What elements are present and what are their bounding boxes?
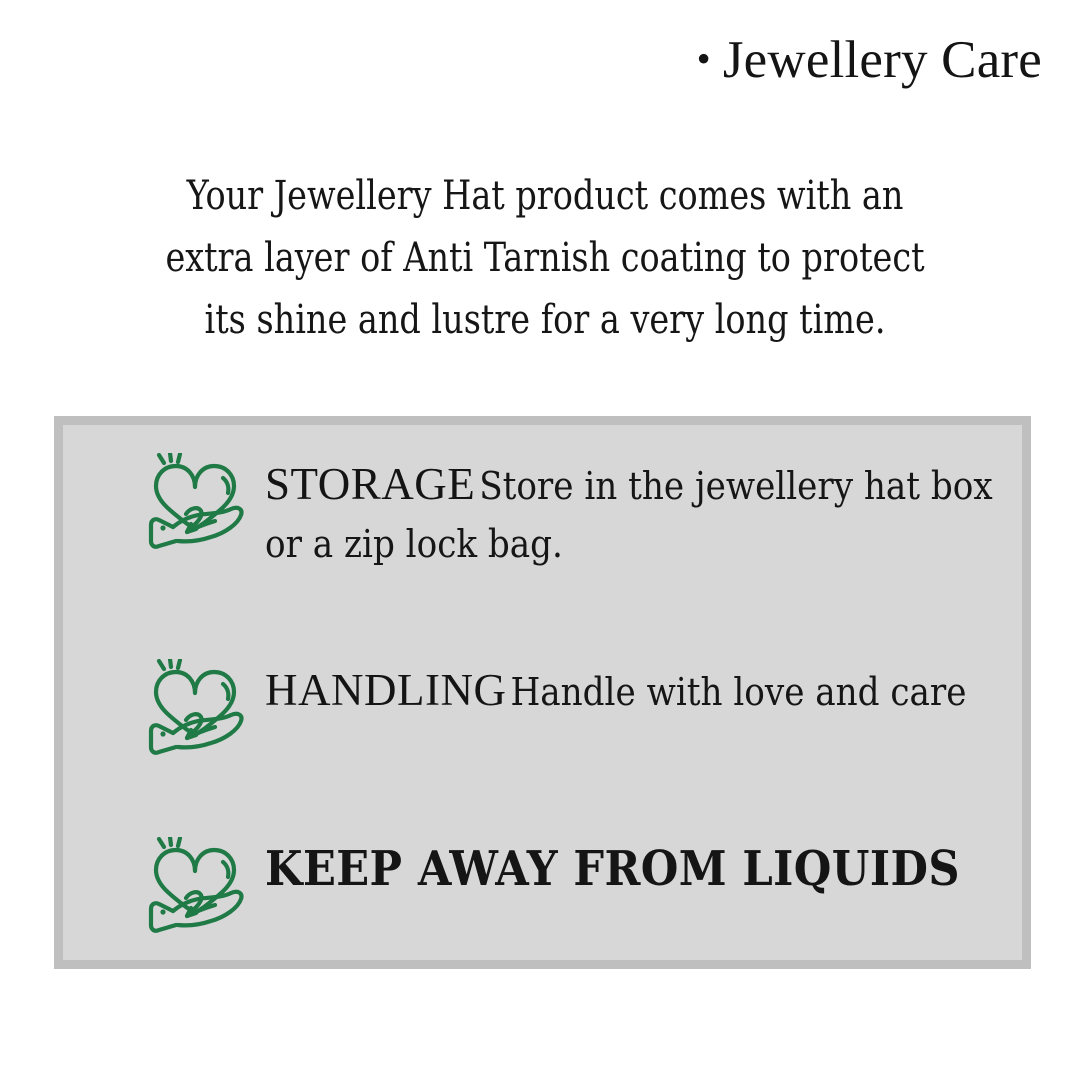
care-instructions-list: STORAGE Store in the jewellery hat box o…: [63, 425, 1022, 960]
bullet-icon: •: [697, 39, 711, 79]
care-item-desc-line: or a zip lock bag.: [265, 522, 563, 566]
care-item-text: KEEP AWAY FROM LIQUIDS: [265, 831, 960, 897]
care-item-heading: HANDLING: [265, 665, 506, 715]
page-title-text: Jewellery Care: [723, 31, 1042, 89]
care-item-text: STORAGE Store in the jewellery hat box o…: [265, 447, 1022, 573]
care-item-keep-away-from-liquids: KEEP AWAY FROM LIQUIDS: [143, 831, 960, 935]
care-item-storage: STORAGE Store in the jewellery hat box o…: [143, 447, 1022, 573]
intro-line-1: Your Jewellery Hat product comes with an: [103, 165, 987, 227]
care-item-heading: KEEP AWAY FROM LIQUIDS: [265, 841, 960, 897]
care-item-text: HANDLING Handle with love and care: [265, 653, 967, 721]
heart-in-hand-icon: [143, 659, 247, 757]
heart-in-hand-icon: [143, 837, 247, 935]
page-title: •Jewellery Care: [0, 28, 1042, 92]
intro-line-2: extra layer of Anti Tarnish coating to p…: [103, 227, 987, 289]
intro-line-3: its shine and lustre for a very long tim…: [103, 289, 987, 351]
care-item-heading: STORAGE: [265, 459, 475, 509]
care-item-desc-line: Store in the jewellery hat box: [479, 464, 992, 508]
care-instructions-box: STORAGE Store in the jewellery hat box o…: [54, 416, 1031, 969]
care-item-desc-line: Handle with love and care: [510, 670, 966, 714]
intro-paragraph: Your Jewellery Hat product comes with an…: [70, 165, 1020, 351]
heart-in-hand-icon: [143, 453, 247, 551]
care-item-handling: HANDLING Handle with love and care: [143, 653, 967, 757]
